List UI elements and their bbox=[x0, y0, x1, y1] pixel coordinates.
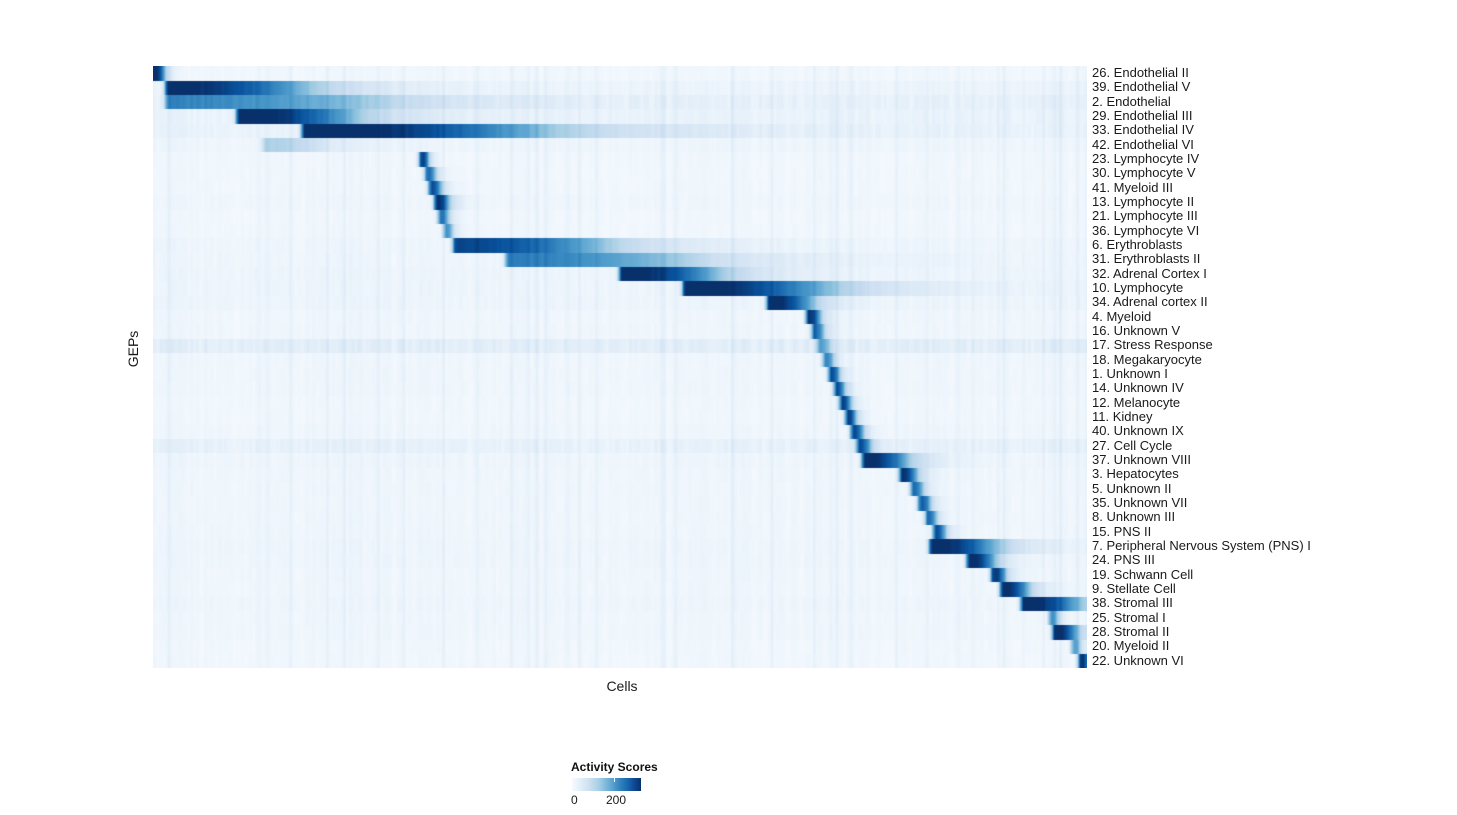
row-label: 15. PNS II bbox=[1092, 525, 1151, 539]
row-label: 19. Schwann Cell bbox=[1092, 568, 1193, 582]
row-label: 41. Myeloid III bbox=[1092, 181, 1173, 195]
row-label: 16. Unknown V bbox=[1092, 324, 1180, 338]
row-label: 38. Stromal III bbox=[1092, 596, 1173, 610]
row-label: 33. Endothelial IV bbox=[1092, 123, 1194, 137]
row-label: 17. Stress Response bbox=[1092, 338, 1213, 352]
row-label: 25. Stromal I bbox=[1092, 611, 1166, 625]
row-label: 32. Adrenal Cortex I bbox=[1092, 267, 1207, 281]
row-label: 11. Kidney bbox=[1092, 410, 1152, 424]
row-label: 36. Lymphocyte VI bbox=[1092, 224, 1199, 238]
row-label: 31. Erythroblasts II bbox=[1092, 252, 1200, 266]
row-label: 2. Endothelial bbox=[1092, 95, 1171, 109]
row-label-list: 26. Endothelial II39. Endothelial V2. En… bbox=[1092, 66, 1452, 668]
row-label: 24. PNS III bbox=[1092, 553, 1155, 567]
row-label: 4. Myeloid bbox=[1092, 310, 1151, 324]
row-label: 30. Lymphocyte V bbox=[1092, 166, 1196, 180]
row-label: 12. Melanocyte bbox=[1092, 396, 1180, 410]
heatmap-canvas bbox=[153, 66, 1087, 668]
heatmap-figure: GEPs Cells 26. Endothelial II39. Endothe… bbox=[0, 0, 1457, 815]
colorbar-tick-max: 200 bbox=[606, 793, 626, 807]
row-label: 37. Unknown VIII bbox=[1092, 453, 1191, 467]
row-label: 26. Endothelial II bbox=[1092, 66, 1189, 80]
row-label: 40. Unknown IX bbox=[1092, 424, 1184, 438]
colorbar-gradient bbox=[572, 778, 641, 791]
row-label: 23. Lymphocyte IV bbox=[1092, 152, 1199, 166]
row-label: 8. Unknown III bbox=[1092, 510, 1175, 524]
row-label: 9. Stellate Cell bbox=[1092, 582, 1176, 596]
row-label: 18. Megakaryocyte bbox=[1092, 353, 1202, 367]
row-label: 1. Unknown I bbox=[1092, 367, 1168, 381]
row-label: 28. Stromal II bbox=[1092, 625, 1169, 639]
row-label: 6. Erythroblasts bbox=[1092, 238, 1182, 252]
row-label: 34. Adrenal cortex II bbox=[1092, 295, 1208, 309]
row-label: 39. Endothelial V bbox=[1092, 80, 1190, 94]
row-label: 13. Lymphocyte II bbox=[1092, 195, 1194, 209]
y-axis-label: GEPs bbox=[125, 331, 141, 368]
row-label: 14. Unknown IV bbox=[1092, 381, 1184, 395]
row-label: 10. Lymphocyte bbox=[1092, 281, 1183, 295]
row-label: 3. Hepatocytes bbox=[1092, 467, 1179, 481]
row-label: 22. Unknown VI bbox=[1092, 654, 1184, 668]
row-label: 21. Lymphocyte III bbox=[1092, 209, 1198, 223]
row-label: 27. Cell Cycle bbox=[1092, 439, 1172, 453]
colorbar-tick-min: 0 bbox=[571, 793, 578, 807]
colorbar-title: Activity Scores bbox=[571, 760, 658, 774]
colorbar-tick-mark bbox=[614, 778, 615, 782]
row-label: 42. Endothelial VI bbox=[1092, 138, 1194, 152]
row-label: 5. Unknown II bbox=[1092, 482, 1172, 496]
row-label: 35. Unknown VII bbox=[1092, 496, 1187, 510]
colorbar-legend: Activity Scores 0 200 bbox=[571, 760, 791, 808]
row-label: 7. Peripheral Nervous System (PNS) I bbox=[1092, 539, 1311, 553]
heatmap-plot-area bbox=[153, 66, 1087, 668]
x-axis-label: Cells bbox=[606, 678, 637, 694]
row-label: 20. Myeloid II bbox=[1092, 639, 1169, 653]
row-label: 29. Endothelial III bbox=[1092, 109, 1192, 123]
